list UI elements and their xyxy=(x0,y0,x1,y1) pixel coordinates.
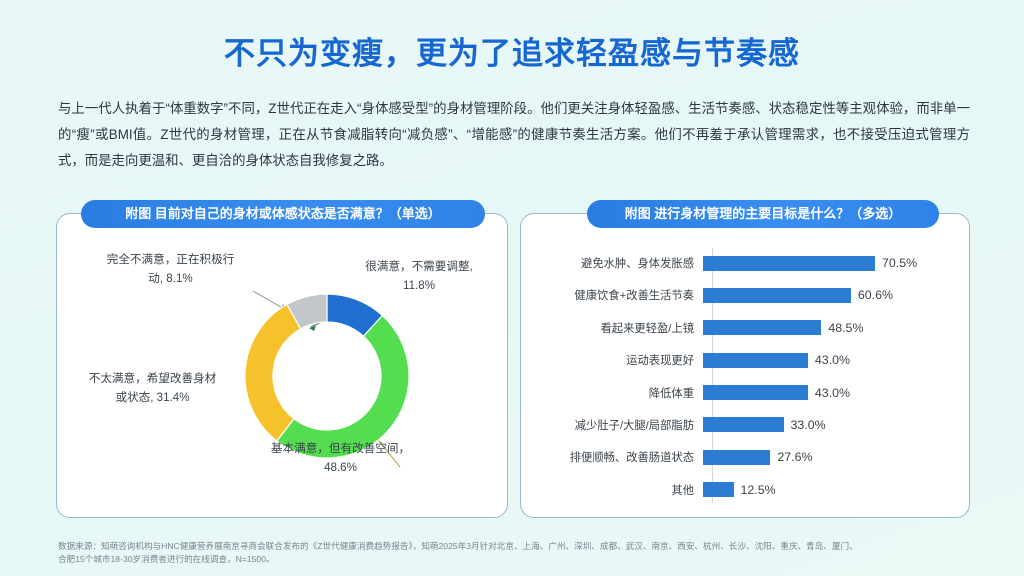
bar-value-label: 27.6% xyxy=(777,450,812,464)
bar-row: 运动表现更好43.0% xyxy=(521,345,971,375)
bar-category-label: 其他 xyxy=(521,482,703,498)
bar-fill xyxy=(703,482,734,497)
bar-row: 降低体重43.0% xyxy=(521,378,971,408)
bar-track: 70.5% xyxy=(703,248,971,278)
footnote-line-1: 数据来源：知萌咨询机构与HNC健康营养展南京寻商会联合发布的《Z世代健康消费趋势… xyxy=(58,540,988,553)
bar-category-label: 降低体重 xyxy=(521,385,703,401)
donut-callout-very-satisfied: 很满意，不需要调整, 11.8% xyxy=(343,257,495,295)
bar-row: 减少肚子/大腿/局部脂肪33.0% xyxy=(521,410,971,440)
bar-fill xyxy=(703,417,784,432)
bar-track: 27.6% xyxy=(703,442,971,472)
bar-chart-goals: 避免水肿、身体发胀感70.5%健康饮食+改善生活节奏60.6%看起来更轻盈/上镜… xyxy=(521,248,971,506)
bar-row: 排便顺畅、改善肠道状态27.6% xyxy=(521,442,971,472)
page-title: 不只为变瘦，更为了追求轻盈感与节奏感 xyxy=(0,28,1024,73)
bar-fill xyxy=(703,353,808,368)
bar-value-label: 43.0% xyxy=(815,353,850,367)
bar-fill xyxy=(703,320,821,335)
bar-value-label: 33.0% xyxy=(791,418,826,432)
chart-title-goals: 附图 进行身材管理的主要目标是什么？（多选） xyxy=(587,200,939,228)
bar-value-label: 48.5% xyxy=(828,321,863,335)
chart-title-satisfaction: 附图 目前对自己的身材或体感状态是否满意？（单选） xyxy=(81,200,485,228)
bar-category-label: 看起来更轻盈/上镜 xyxy=(521,320,703,336)
bar-row: 健康饮食+改善生活节奏60.6% xyxy=(521,280,971,310)
bar-track: 48.5% xyxy=(703,313,971,343)
bar-value-label: 70.5% xyxy=(882,256,917,270)
intro-paragraph: 与上一代人执着于“体重数字”不同，Z世代正在走入“身体感受型”的身材管理阶段。他… xyxy=(58,96,970,174)
donut-callout-very-unsatisfied: 完全不满意，正在积极行 动, 8.1% xyxy=(83,250,258,288)
bar-track: 12.5% xyxy=(703,475,971,505)
donut-slice xyxy=(277,316,409,458)
donut-slice xyxy=(245,304,301,441)
bar-value-label: 60.6% xyxy=(858,288,893,302)
donut-callout-unsatisfied: 不太满意，希望改善身材 或状态, 31.4% xyxy=(65,369,240,407)
bar-value-label: 43.0% xyxy=(815,386,850,400)
bar-track: 33.0% xyxy=(703,410,971,440)
chart-card-satisfaction: 附图 目前对自己的身材或体感状态是否满意？（单选） 完全不满意，正在积极行 动,… xyxy=(56,213,508,518)
bar-track: 43.0% xyxy=(703,378,971,408)
donut-callout-mostly-satisfied: 基本满意，但有改善空间， 48.6% xyxy=(253,439,428,477)
bar-fill xyxy=(703,450,770,465)
footnote: 数据来源：知萌咨询机构与HNC健康营养展南京寻商会联合发布的《Z世代健康消费趋势… xyxy=(58,540,988,565)
bar-track: 43.0% xyxy=(703,345,971,375)
bar-category-label: 排便顺畅、改善肠道状态 xyxy=(521,449,703,465)
bar-row: 其他12.5% xyxy=(521,475,971,505)
bar-fill xyxy=(703,256,875,271)
bar-category-label: 健康饮食+改善生活节奏 xyxy=(521,287,703,303)
bar-fill xyxy=(703,385,808,400)
bar-category-label: 减少肚子/大腿/局部脂肪 xyxy=(521,417,703,433)
bar-row: 看起来更轻盈/上镜48.5% xyxy=(521,313,971,343)
bar-fill xyxy=(703,288,851,303)
bar-value-label: 12.5% xyxy=(741,483,776,497)
bar-category-label: 避免水肿、身体发胀感 xyxy=(521,255,703,271)
footnote-line-2: 合肥15个城市18-30岁消费者进行的在线调查，N=1500。 xyxy=(58,553,988,566)
bar-category-label: 运动表现更好 xyxy=(521,352,703,368)
bar-track: 60.6% xyxy=(703,280,971,310)
bar-row: 避免水肿、身体发胀感70.5% xyxy=(521,248,971,278)
chart-card-goals: 附图 进行身材管理的主要目标是什么？（多选） 避免水肿、身体发胀感70.5%健康… xyxy=(520,213,970,518)
